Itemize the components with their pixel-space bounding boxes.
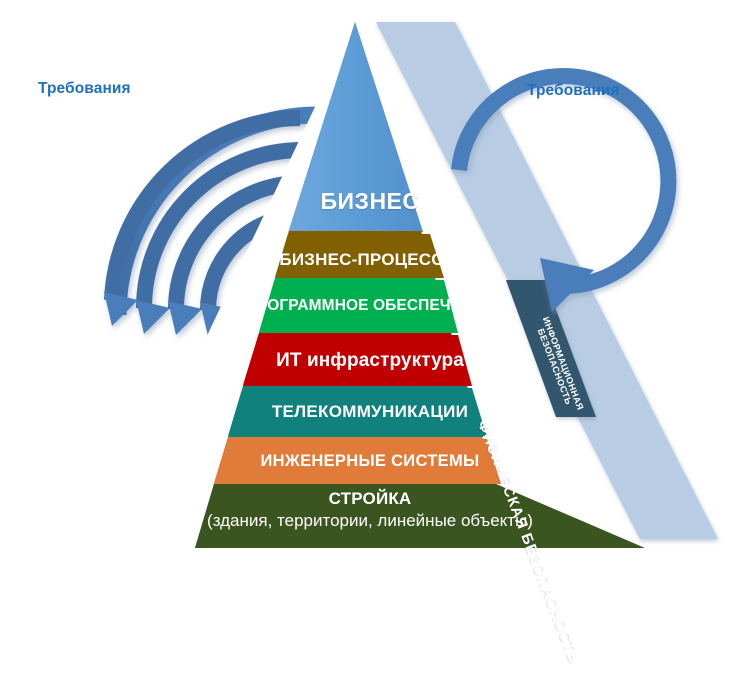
requirements-label-left: Требования (38, 80, 131, 98)
diagram-canvas: Требования Требования БИЗНЕС БИЗНЕС-ПРОЦ… (0, 0, 740, 573)
requirements-label-right: Требования (527, 82, 620, 100)
